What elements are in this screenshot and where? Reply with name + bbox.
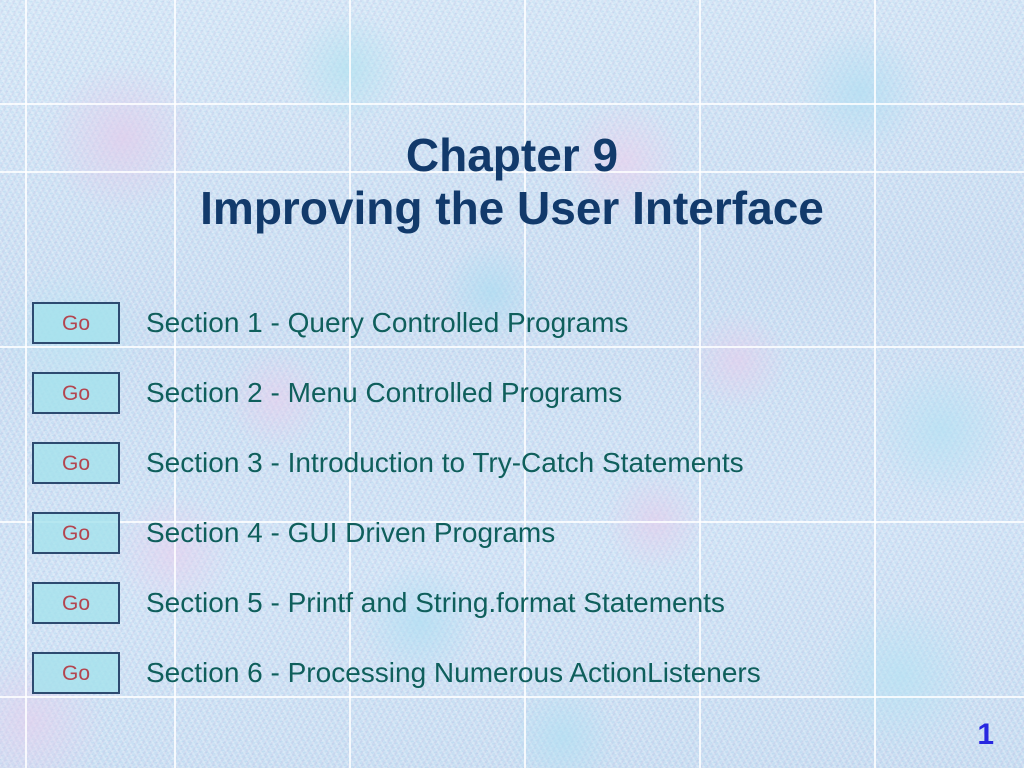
section-label-2: Section 2 - Menu Controlled Programs [146, 377, 622, 409]
page-number: 1 [977, 718, 994, 752]
section-row: Go Section 2 - Menu Controlled Programs [0, 358, 1024, 428]
section-row: Go Section 3 - Introduction to Try-Catch… [0, 428, 1024, 498]
go-button-section-1[interactable]: Go [32, 302, 120, 344]
section-row: Go Section 4 - GUI Driven Programs [0, 498, 1024, 568]
go-button-section-2[interactable]: Go [32, 372, 120, 414]
section-label-3: Section 3 - Introduction to Try-Catch St… [146, 447, 744, 479]
title-line-chapter: Chapter 9 [0, 132, 1024, 179]
section-row: Go Section 1 - Query Controlled Programs [0, 288, 1024, 358]
go-button-label: Go [62, 453, 90, 474]
section-row: Go Section 6 - Processing Numerous Actio… [0, 638, 1024, 708]
go-button-label: Go [62, 313, 90, 334]
go-button-label: Go [62, 663, 90, 684]
go-button-label: Go [62, 593, 90, 614]
section-label-5: Section 5 - Printf and String.format Sta… [146, 587, 725, 619]
section-label-1: Section 1 - Query Controlled Programs [146, 307, 628, 339]
go-button-label: Go [62, 523, 90, 544]
go-button-section-4[interactable]: Go [32, 512, 120, 554]
go-button-section-3[interactable]: Go [32, 442, 120, 484]
section-list: Go Section 1 - Query Controlled Programs… [0, 288, 1024, 708]
go-button-section-5[interactable]: Go [32, 582, 120, 624]
go-button-label: Go [62, 383, 90, 404]
slide-title: Chapter 9 Improving the User Interface [0, 132, 1024, 232]
title-line-subtitle: Improving the User Interface [0, 185, 1024, 232]
section-label-6: Section 6 - Processing Numerous ActionLi… [146, 657, 761, 689]
section-label-4: Section 4 - GUI Driven Programs [146, 517, 555, 549]
presentation-slide: Chapter 9 Improving the User Interface G… [0, 0, 1024, 768]
go-button-section-6[interactable]: Go [32, 652, 120, 694]
section-row: Go Section 5 - Printf and String.format … [0, 568, 1024, 638]
